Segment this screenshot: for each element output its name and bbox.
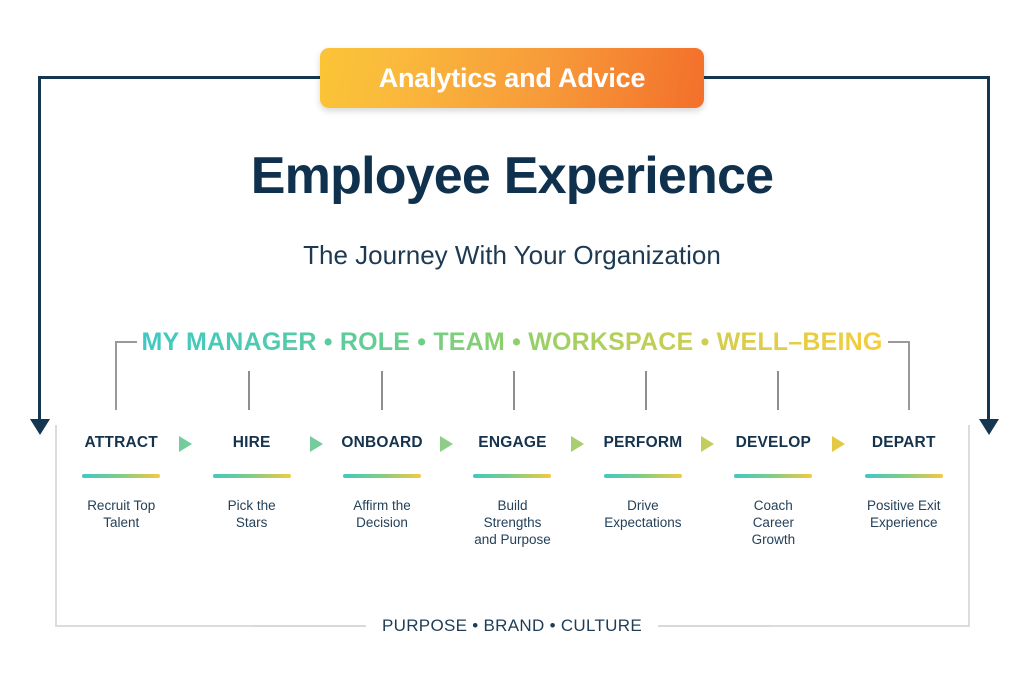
arrow-down-left-icon [30, 419, 50, 435]
stage-divider-bar [734, 474, 812, 478]
footer-rule-left [254, 625, 366, 627]
drivers-label: MY MANAGER • ROLE • TEAM • WORKSPACE • W… [141, 328, 882, 357]
footer-label: PURPOSE • BRAND • CULTURE [366, 616, 658, 636]
stage-description: Build Strengths and Purpose [474, 497, 551, 548]
stage-description: Affirm the Decision [353, 497, 411, 531]
bracket-edge-right [908, 341, 910, 410]
stage-name: HIRE [233, 434, 271, 452]
journey-stage[interactable]: ATTRACTRecruit Top Talent [56, 425, 186, 585]
footer: PURPOSE • BRAND • CULTURE [0, 616, 1024, 636]
stage-description: Pick the Stars [228, 497, 276, 531]
bracket-edge-left [115, 341, 117, 410]
stage-divider-bar [865, 474, 943, 478]
stage-description: Coach Career Growth [752, 497, 796, 548]
stage-name: PERFORM [603, 434, 682, 452]
drivers-row: MY MANAGER • ROLE • TEAM • WORKSPACE • W… [0, 328, 1024, 357]
journey-stages: ATTRACTRecruit Top TalentHIREPick the St… [56, 425, 969, 585]
bracket-tick-2 [248, 371, 250, 410]
stage-description: Drive Expectations [604, 497, 681, 531]
analytics-and-advice-banner: Analytics and Advice [320, 48, 704, 108]
journey-stage[interactable]: HIREPick the Stars [186, 425, 316, 585]
diagram-canvas: Analytics and Advice Employee Experience… [0, 0, 1024, 683]
stage-description: Recruit Top Talent [87, 497, 155, 531]
footer-rule-right [658, 625, 770, 627]
journey-stage[interactable]: PERFORMDrive Expectations [578, 425, 708, 585]
journey-stage[interactable]: DEVELOPCoach Career Growth [708, 425, 838, 585]
journey-stage[interactable]: ENGAGEBuild Strengths and Purpose [447, 425, 577, 585]
stage-name: ATTRACT [84, 434, 157, 452]
banner-label: Analytics and Advice [379, 63, 646, 94]
stage-divider-bar [213, 474, 291, 478]
frame-line-top-right [702, 76, 990, 79]
stage-divider-bar [82, 474, 160, 478]
page-subtitle: The Journey With Your Organization [0, 240, 1024, 271]
stage-name: DEVELOP [736, 434, 811, 452]
stage-divider-bar [604, 474, 682, 478]
journey-stage[interactable]: ONBOARDAffirm the Decision [317, 425, 447, 585]
stage-name: ONBOARD [341, 434, 422, 452]
stage-name: ENGAGE [478, 434, 546, 452]
arrow-down-right-icon [979, 419, 999, 435]
stage-name: DEPART [872, 434, 936, 452]
stage-divider-bar [343, 474, 421, 478]
bracket-tick-4 [513, 371, 515, 410]
stage-divider-bar [473, 474, 551, 478]
bracket-top-right [888, 341, 910, 343]
journey-stage[interactable]: DEPARTPositive Exit Experience [839, 425, 969, 585]
bracket-tick-3 [381, 371, 383, 410]
stage-description: Positive Exit Experience [867, 497, 941, 531]
bracket-top-left [115, 341, 137, 343]
bracket-tick-5 [645, 371, 647, 410]
page-title: Employee Experience [0, 146, 1024, 206]
bracket-tick-6 [777, 371, 779, 410]
frame-line-top-left [38, 76, 322, 79]
